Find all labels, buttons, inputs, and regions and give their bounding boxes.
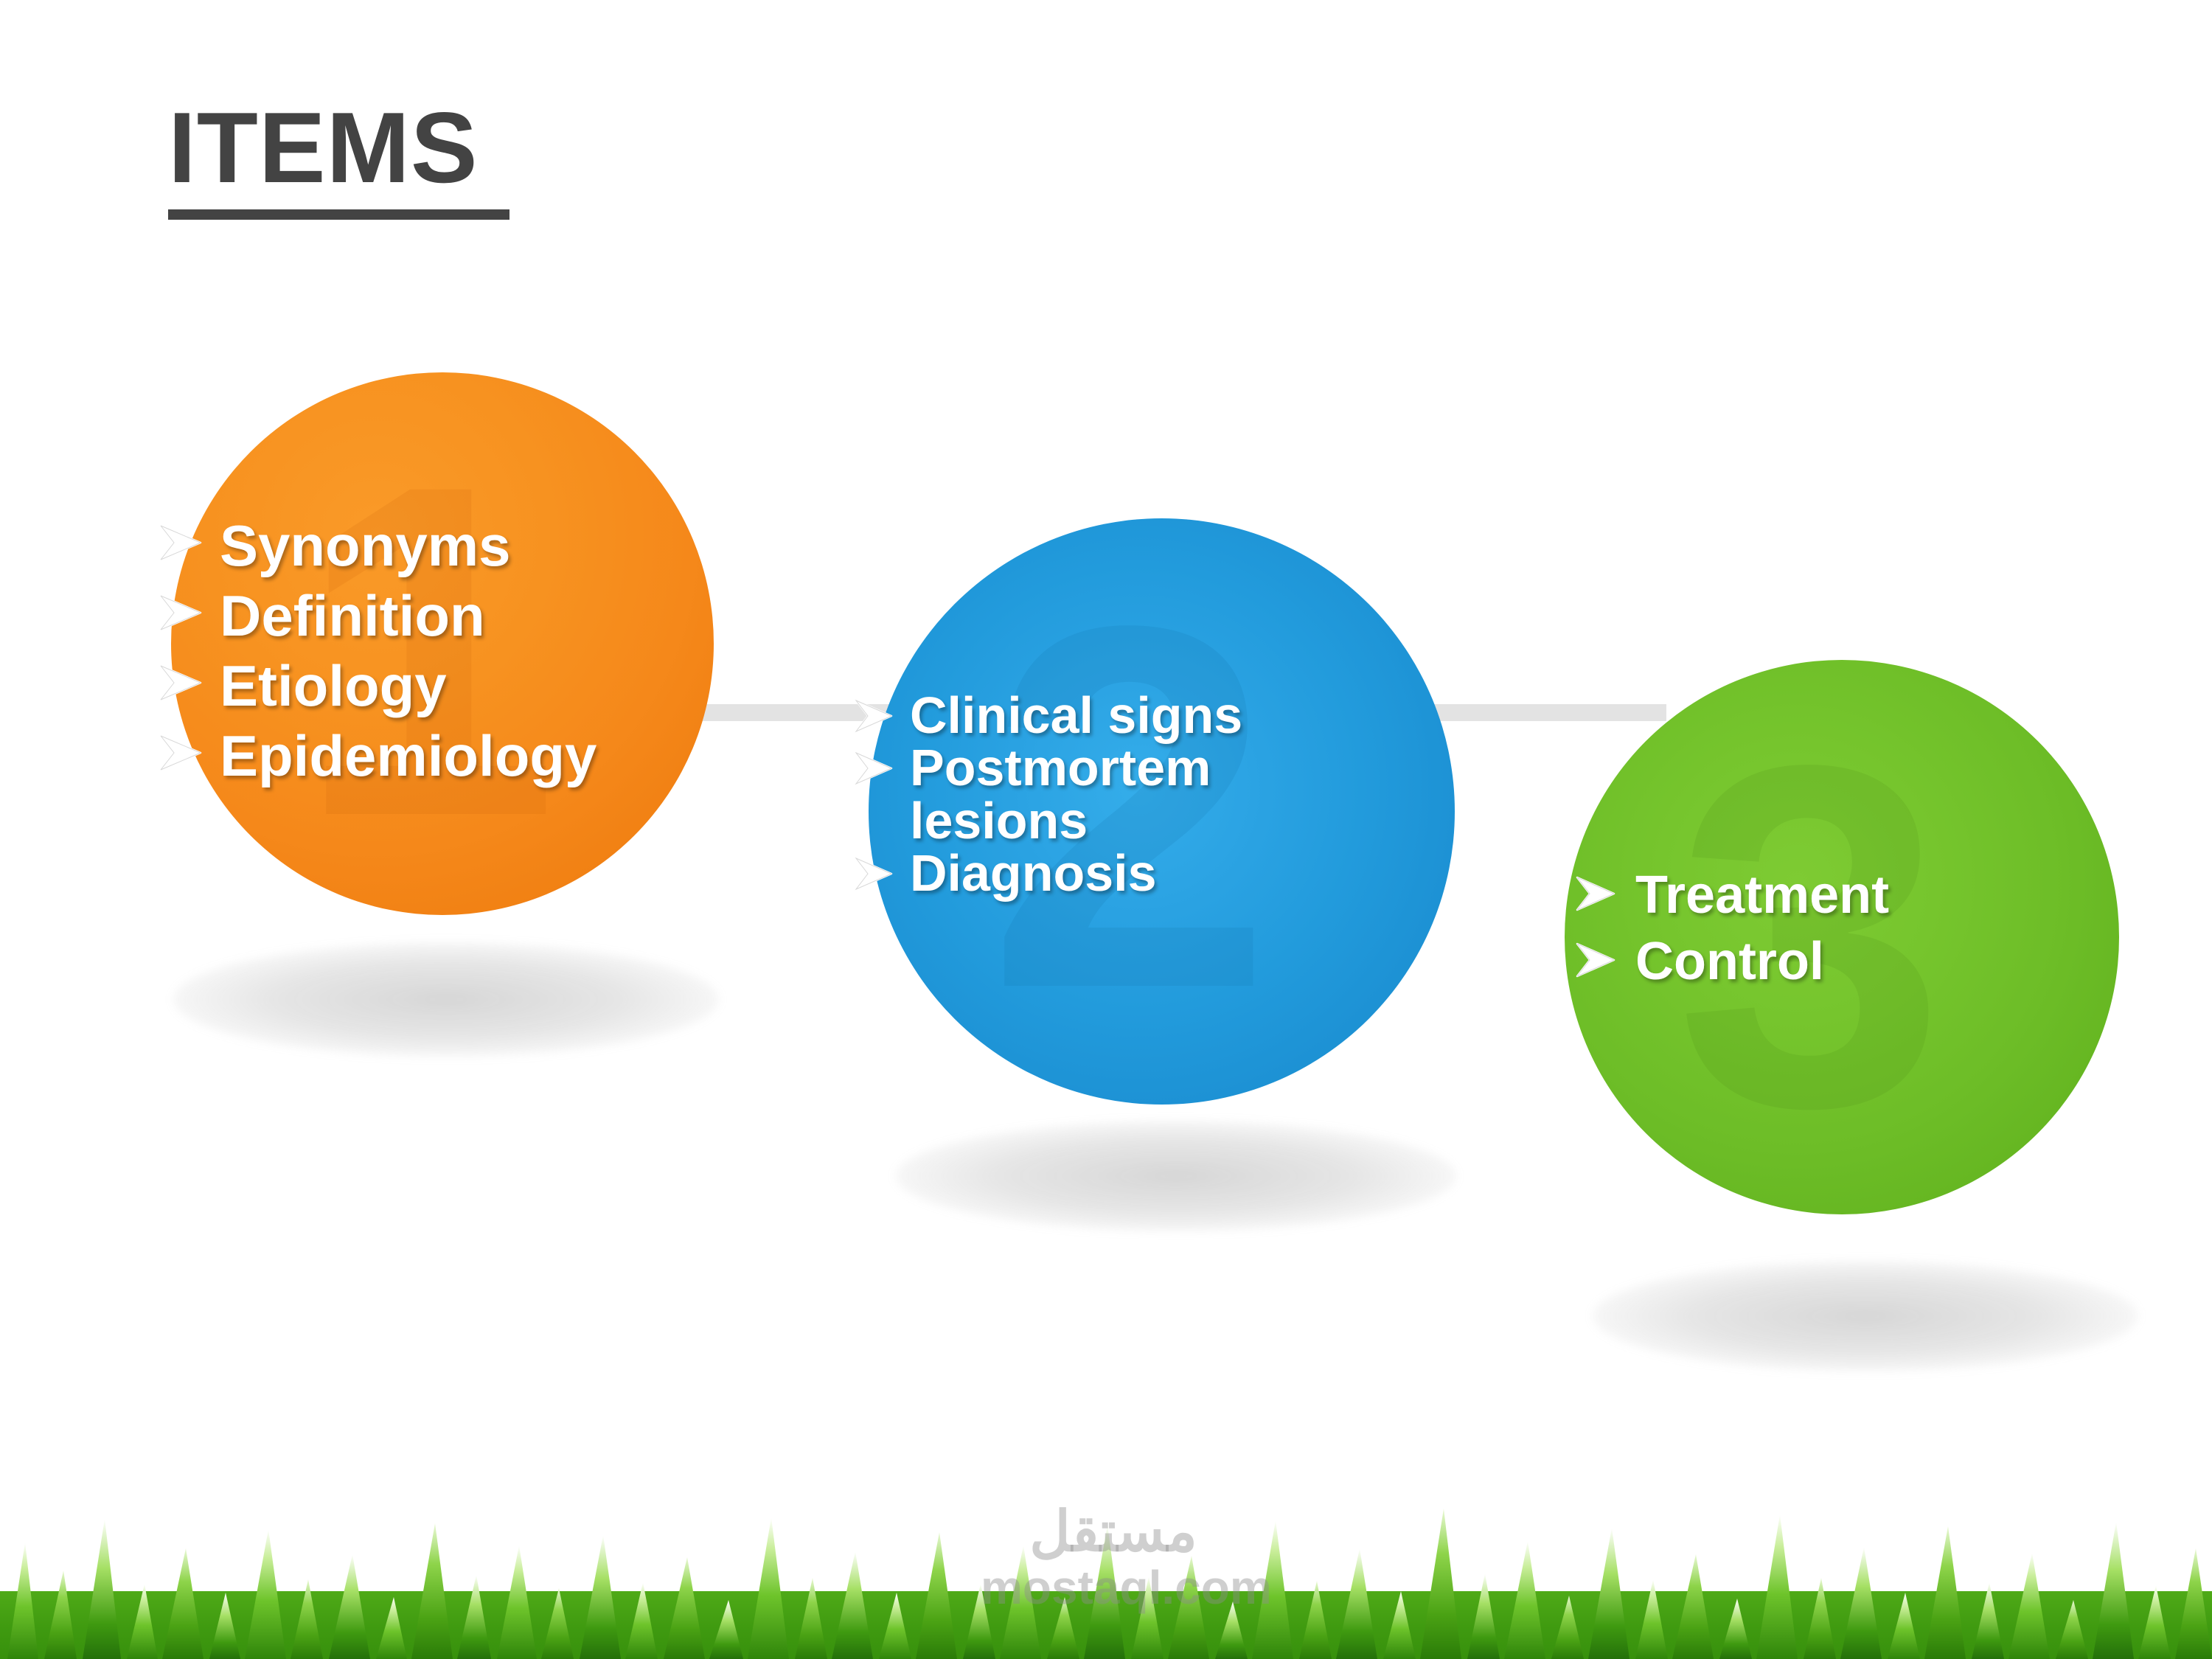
title-text: ITEMS (168, 97, 509, 198)
arrow-bullet-icon (155, 731, 206, 774)
arrow-bullet-icon (1572, 940, 1619, 980)
list-item-label: Clinical signs (910, 689, 1242, 742)
circle-shadow-3 (1593, 1261, 2138, 1371)
list-item-label: Definition (220, 582, 485, 650)
item-group-circle-1[interactable]: 1 Synonyms Definition (171, 372, 714, 915)
list-item-label: Control (1635, 931, 1824, 992)
arrow-bullet-icon (1572, 874, 1619, 914)
list-item[interactable]: Control (1572, 931, 1889, 992)
list-item-label: Epidemiology (220, 723, 597, 790)
bullet-list-3: Treatment Control (1572, 865, 1889, 992)
page-title: ITEMS (168, 97, 509, 220)
arrow-bullet-icon (851, 749, 897, 787)
list-item[interactable]: Etiology (155, 653, 597, 720)
circle-shadow-2 (896, 1121, 1456, 1231)
circle-shadow-1 (173, 942, 719, 1057)
bullet-list-1: Synonyms Definition Et (155, 512, 597, 790)
list-item[interactable]: Synonyms (155, 512, 597, 580)
list-item-label: Synonyms (220, 512, 510, 580)
title-underline-rule (168, 209, 509, 220)
arrow-bullet-icon (851, 855, 897, 893)
list-item[interactable]: Definition (155, 582, 597, 650)
list-item-label-continuation: lesions (910, 795, 1211, 847)
arrow-bullet-icon (155, 661, 206, 704)
slide-canvas: ITEMS 1 Synonyms (0, 0, 2212, 1659)
list-item-label: Treatment (1635, 865, 1889, 925)
list-item-label: Postmortem (910, 742, 1211, 794)
arrow-bullet-icon (155, 591, 206, 634)
item-group-circle-2[interactable]: 2 Clinical signs (869, 518, 1455, 1105)
list-item[interactable]: Clinical signs (851, 689, 1242, 742)
item-group-circle-3[interactable]: 3 Treatment Control (1565, 660, 2119, 1214)
grass-decoration (0, 1475, 2212, 1659)
list-item-label: Etiology (220, 653, 447, 720)
arrow-bullet-icon (851, 697, 897, 735)
list-item[interactable]: Treatment (1572, 865, 1889, 925)
list-item[interactable]: Diagnosis (851, 847, 1242, 900)
list-item[interactable]: Epidemiology (155, 723, 597, 790)
bullet-list-2: Clinical signs Postmortem lesions (851, 689, 1242, 900)
list-item[interactable]: Postmortem lesions (851, 742, 1242, 847)
arrow-bullet-icon (155, 521, 206, 564)
grass-blades (0, 1475, 2212, 1659)
list-item-label: Diagnosis (910, 847, 1157, 900)
